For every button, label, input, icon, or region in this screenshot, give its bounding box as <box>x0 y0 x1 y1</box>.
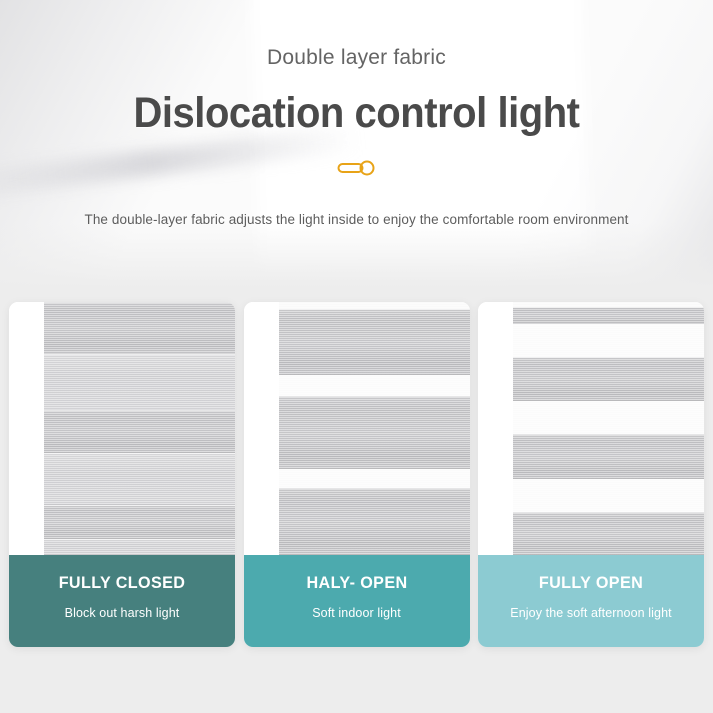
blind-slat <box>44 410 235 453</box>
card-subtitle: Soft indoor light <box>244 606 470 620</box>
blind-light-gap <box>513 401 704 434</box>
blind-slat <box>44 539 235 555</box>
card-subtitle: Block out harsh light <box>9 606 235 620</box>
hero-description: The double-layer fabric adjusts the ligh… <box>0 212 713 227</box>
light-state-card-list: FULLY CLOSED Block out harsh light HALY-… <box>0 302 713 647</box>
blind-slat <box>44 302 235 354</box>
page-title: Dislocation control light <box>25 91 688 136</box>
blind-slat <box>44 354 235 410</box>
light-state-card[interactable]: FULLY CLOSED Block out harsh light <box>9 302 235 647</box>
blind-slat <box>513 357 704 401</box>
blind-preview-fully-closed <box>9 302 235 555</box>
blind-light-gap <box>513 479 704 512</box>
blind-slat <box>44 453 235 505</box>
card-subtitle: Enjoy the soft afternoon light <box>478 606 704 620</box>
blind-light-gap <box>513 324 704 357</box>
card-title: HALY- OPEN <box>249 573 464 593</box>
blind-preview-half-open <box>244 302 470 555</box>
blind-slat <box>279 396 470 469</box>
hero-bottom-fade <box>0 223 713 293</box>
hero-content: Double layer fabric Dislocation control … <box>0 46 713 227</box>
section-divider <box>0 158 713 178</box>
blind-slat <box>279 488 470 555</box>
blind-fabric-panel <box>513 302 704 555</box>
card-caption: FULLY CLOSED Block out harsh light <box>9 555 235 647</box>
blind-slat <box>513 434 704 479</box>
blind-slat <box>513 307 704 324</box>
card-caption: FULLY OPEN Enjoy the soft afternoon ligh… <box>478 555 704 647</box>
card-caption: HALY- OPEN Soft indoor light <box>244 555 470 647</box>
blind-slat <box>513 512 704 555</box>
blind-fabric-panel <box>44 302 235 555</box>
card-title: FULLY CLOSED <box>15 573 230 593</box>
hero-section: Double layer fabric Dislocation control … <box>0 0 713 293</box>
product-feature-page: Double layer fabric Dislocation control … <box>0 0 713 713</box>
card-title: FULLY OPEN <box>484 573 699 593</box>
blind-light-gap <box>279 469 470 488</box>
blind-preview-fully-open <box>478 302 704 555</box>
blind-slat <box>279 309 470 375</box>
light-state-card[interactable]: FULLY OPEN Enjoy the soft afternoon ligh… <box>478 302 704 647</box>
blind-fabric-panel <box>279 302 470 555</box>
light-state-card[interactable]: HALY- OPEN Soft indoor light <box>244 302 470 647</box>
pill-and-circle-icon <box>337 158 377 178</box>
blind-light-gap <box>279 375 470 396</box>
blind-slat <box>44 505 235 539</box>
hero-eyebrow: Double layer fabric <box>0 46 713 70</box>
